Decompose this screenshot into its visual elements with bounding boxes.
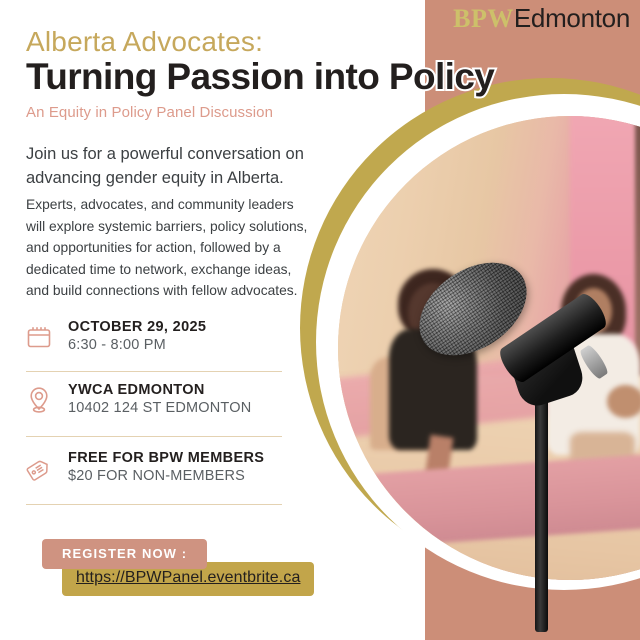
detail-text-date: OCTOBER 29, 2025 6:30 - 8:00 PM: [68, 318, 206, 356]
detail-divider: [26, 371, 282, 372]
venue-primary: YWCA EDMONTON: [68, 381, 251, 399]
detail-row-venue: YWCA EDMONTON 10402 124 ST EDMONTON: [24, 381, 251, 419]
detail-row-price: FREE FOR BPW MEMBERS $20 FOR NON-MEMBERS: [24, 449, 264, 487]
price-tag-icon: [24, 451, 54, 485]
price-primary: FREE FOR BPW MEMBERS: [68, 449, 264, 467]
detail-row-date: OCTOBER 29, 2025 6:30 - 8:00 PM: [24, 318, 206, 356]
date-secondary: 6:30 - 8:00 PM: [68, 336, 206, 356]
logo-mark: BPW: [453, 4, 514, 33]
register-now-badge: REGISTER NOW :: [42, 539, 207, 569]
detail-text-venue: YWCA EDMONTON 10402 124 ST EDMONTON: [68, 381, 251, 419]
event-poster: BPWEdmonton Alberta Advocates: Turning P…: [0, 0, 640, 640]
poster-subhead: An Equity in Policy Panel Discussion: [26, 104, 273, 121]
microphone-stand: [535, 392, 548, 632]
location-pin-icon: [24, 383, 54, 417]
calendar-icon: [24, 320, 54, 354]
detail-text-price: FREE FOR BPW MEMBERS $20 FOR NON-MEMBERS: [68, 449, 264, 487]
detail-divider: [26, 436, 282, 437]
poster-headline: Turning Passion into Policy: [26, 56, 494, 98]
bpw-edmonton-logo: BPWEdmonton: [453, 5, 630, 32]
price-secondary: $20 FOR NON-MEMBERS: [68, 467, 264, 487]
date-primary: OCTOBER 29, 2025: [68, 318, 206, 336]
poster-kicker: Alberta Advocates:: [26, 26, 263, 58]
detail-divider: [26, 504, 282, 505]
description-paragraph: Experts, advocates, and community leader…: [26, 194, 312, 302]
logo-city: Edmonton: [514, 3, 630, 33]
lead-paragraph: Join us for a powerful conversation on a…: [26, 143, 326, 191]
microphone-ring: [578, 343, 610, 380]
venue-secondary: 10402 124 ST EDMONTON: [68, 399, 251, 419]
